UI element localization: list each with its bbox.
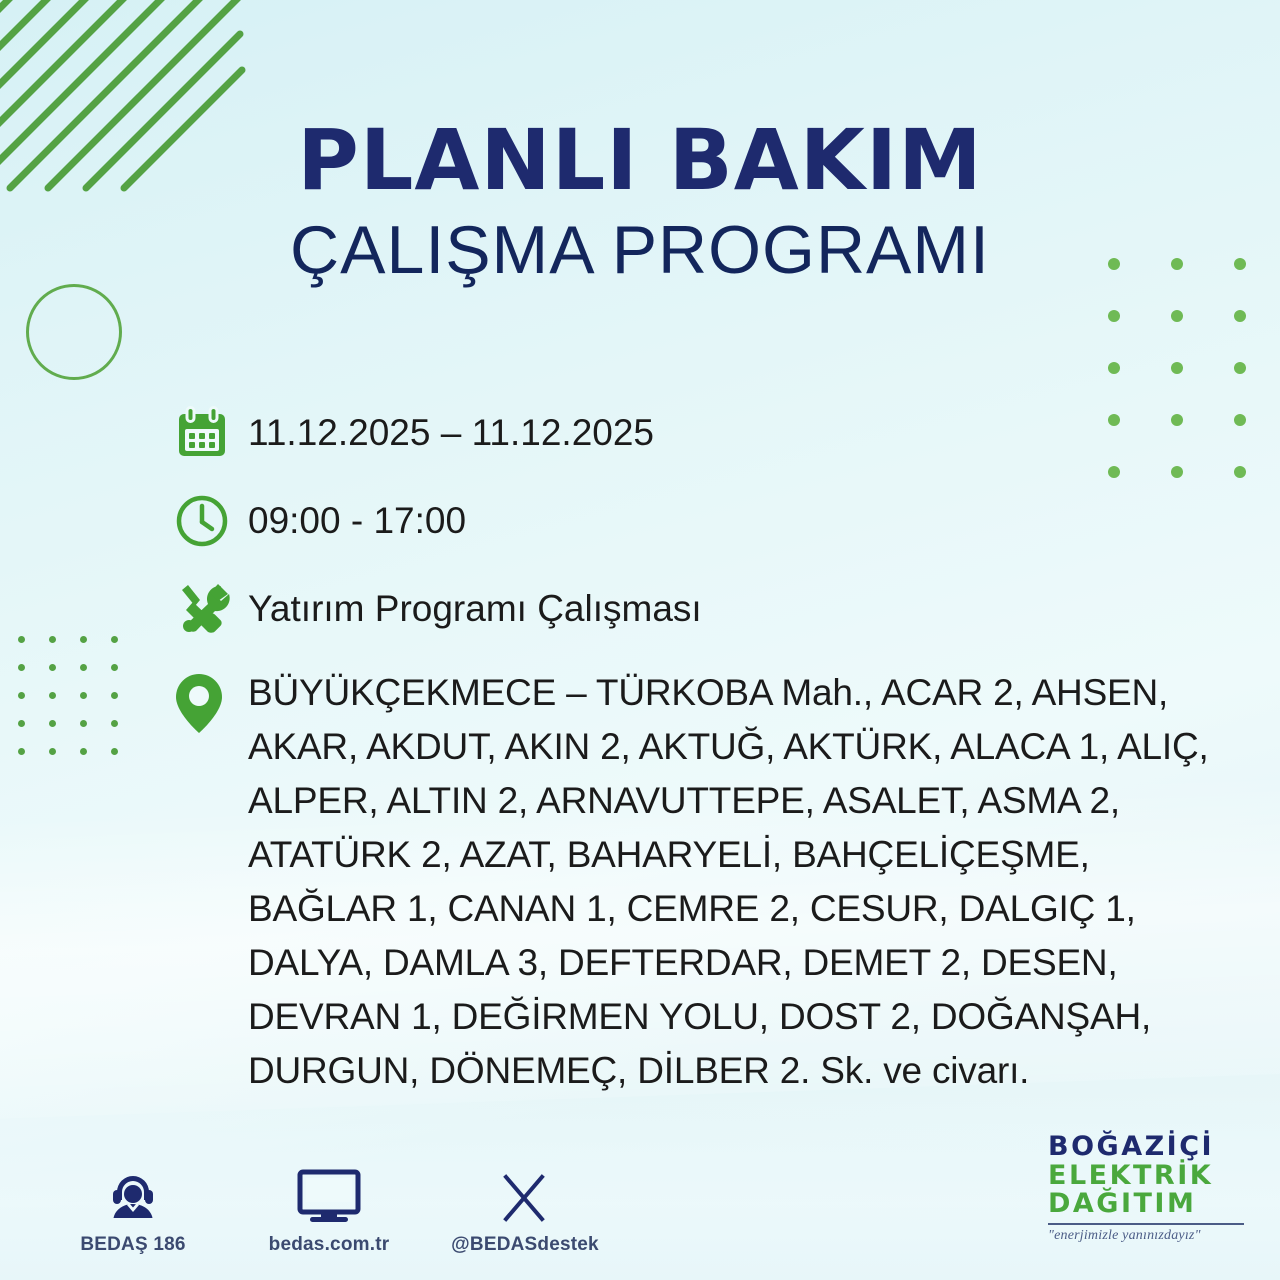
brand-line-bogazici: BOĞAZİÇİ xyxy=(1048,1133,1262,1162)
contact-website[interactable]: bedas.com.tr xyxy=(254,1164,404,1256)
page-subtitle: ÇALIŞMA PROGRAMI xyxy=(0,216,1280,284)
brand-tagline: "enerjimizle yanınızdayız" xyxy=(1048,1228,1262,1244)
dot-grid-left-decoration xyxy=(18,636,142,776)
date-range-text: 11.12.2025 – 11.12.2025 xyxy=(248,402,654,464)
detail-row-address: BÜYÜKÇEKMECE – TÜRKOBA Mah., ACAR 2, AHS… xyxy=(170,666,1240,1098)
poster-footer: BEDAŞ 186 bedas.com.tr xyxy=(0,1134,1280,1264)
calendar-icon xyxy=(170,402,248,464)
contact-x-label: @BEDASdestek xyxy=(450,1234,600,1256)
circle-outline-decoration xyxy=(26,284,122,380)
clock-icon xyxy=(170,490,248,552)
time-range-text: 09:00 - 17:00 xyxy=(248,490,466,552)
brand-line-dagitim: DAĞITIM xyxy=(1048,1190,1262,1219)
brand-logo: BOĞAZİÇİ ELEKTRİK DAĞITIM "enerjimizle y… xyxy=(1048,1133,1262,1244)
brand-divider xyxy=(1048,1223,1244,1225)
detail-row-work-type: Yatırım Programı Çalışması xyxy=(170,578,1240,640)
poster-header: PLANLI BAKIM ÇALIŞMA PROGRAMI xyxy=(0,118,1280,284)
maintenance-details: 11.12.2025 – 11.12.2025 09:00 - 17:00 xyxy=(170,402,1240,1098)
page-title: PLANLI BAKIM xyxy=(0,118,1280,202)
detail-row-time: 09:00 - 17:00 xyxy=(170,490,1240,552)
brand-line-elektrik: ELEKTRİK xyxy=(1048,1162,1262,1191)
tools-icon xyxy=(170,578,248,640)
address-text: BÜYÜKÇEKMECE – TÜRKOBA Mah., ACAR 2, AHS… xyxy=(248,666,1213,1098)
map-pin-icon xyxy=(170,666,248,728)
detail-row-date: 11.12.2025 – 11.12.2025 xyxy=(170,402,1240,464)
x-twitter-icon xyxy=(450,1164,600,1226)
contact-phone[interactable]: BEDAŞ 186 xyxy=(58,1164,208,1256)
monitor-icon xyxy=(254,1164,404,1226)
contact-phone-label: BEDAŞ 186 xyxy=(58,1234,208,1256)
call-center-agent-icon xyxy=(58,1164,208,1226)
contact-list: BEDAŞ 186 bedas.com.tr xyxy=(58,1164,600,1256)
contact-website-label: bedas.com.tr xyxy=(254,1234,404,1256)
work-type-text: Yatırım Programı Çalışması xyxy=(248,578,702,640)
contact-x-social[interactable]: @BEDASdestek xyxy=(450,1164,600,1256)
planned-maintenance-poster: PLANLI BAKIM ÇALIŞMA PROGRAMI xyxy=(0,0,1280,1280)
